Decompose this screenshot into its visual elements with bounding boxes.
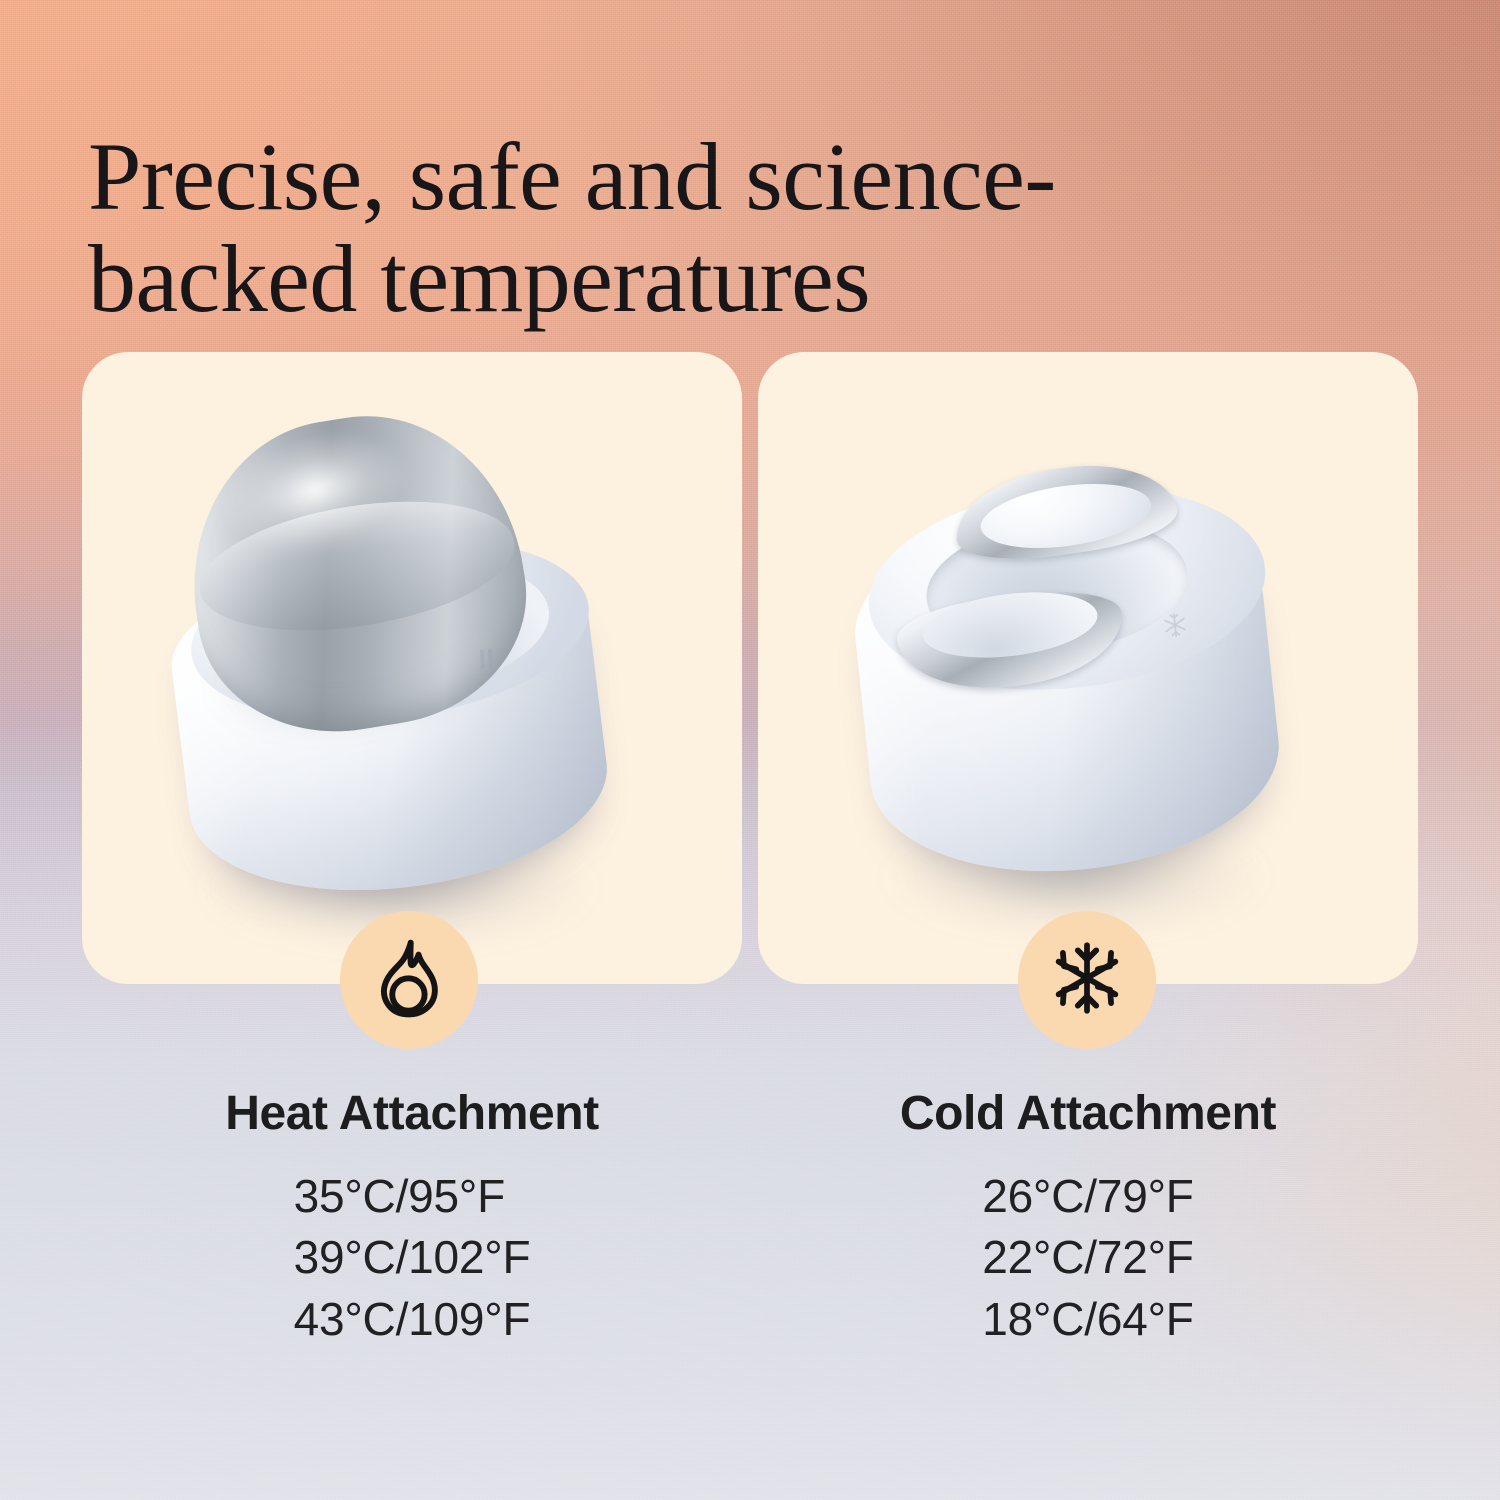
temperature-item: 22°C/72°F — [982, 1227, 1193, 1289]
snowflake-mark — [1159, 609, 1192, 642]
brand-logo-mark — [473, 644, 504, 673]
heat-attachment-card — [82, 352, 742, 984]
temperature-item: 39°C/102°F — [294, 1227, 531, 1289]
heat-attachment-product — [128, 410, 658, 930]
heat-temperature-list: 35°C/95°F 39°C/102°F 43°C/109°F — [294, 1166, 531, 1351]
cold-attachment-card — [758, 352, 1418, 984]
page-headline: Precise, safe and science- backed temper… — [88, 126, 1288, 330]
temperature-item: 35°C/95°F — [294, 1166, 531, 1228]
cold-badge — [1018, 911, 1156, 1049]
flame-icon — [372, 937, 446, 1024]
temperature-item: 18°C/64°F — [982, 1289, 1193, 1351]
cold-attachment-title: Cold Attachment — [758, 1088, 1418, 1140]
cold-label-block: Cold Attachment 26°C/79°F 22°C/72°F 18°C… — [758, 1088, 1418, 1351]
heat-label-block: Heat Attachment 35°C/95°F 39°C/102°F 43°… — [82, 1088, 742, 1351]
temperature-item: 43°C/109°F — [294, 1289, 531, 1351]
heat-attachment-title: Heat Attachment — [82, 1088, 742, 1140]
snowflake-icon — [1046, 937, 1128, 1024]
cold-attachment-product — [804, 410, 1334, 930]
cold-temperature-list: 26°C/79°F 22°C/72°F 18°C/64°F — [982, 1166, 1193, 1351]
temperature-item: 26°C/79°F — [982, 1166, 1193, 1228]
heat-badge — [340, 911, 478, 1049]
product-feature-image: Precise, safe and science- backed temper… — [0, 0, 1500, 1500]
